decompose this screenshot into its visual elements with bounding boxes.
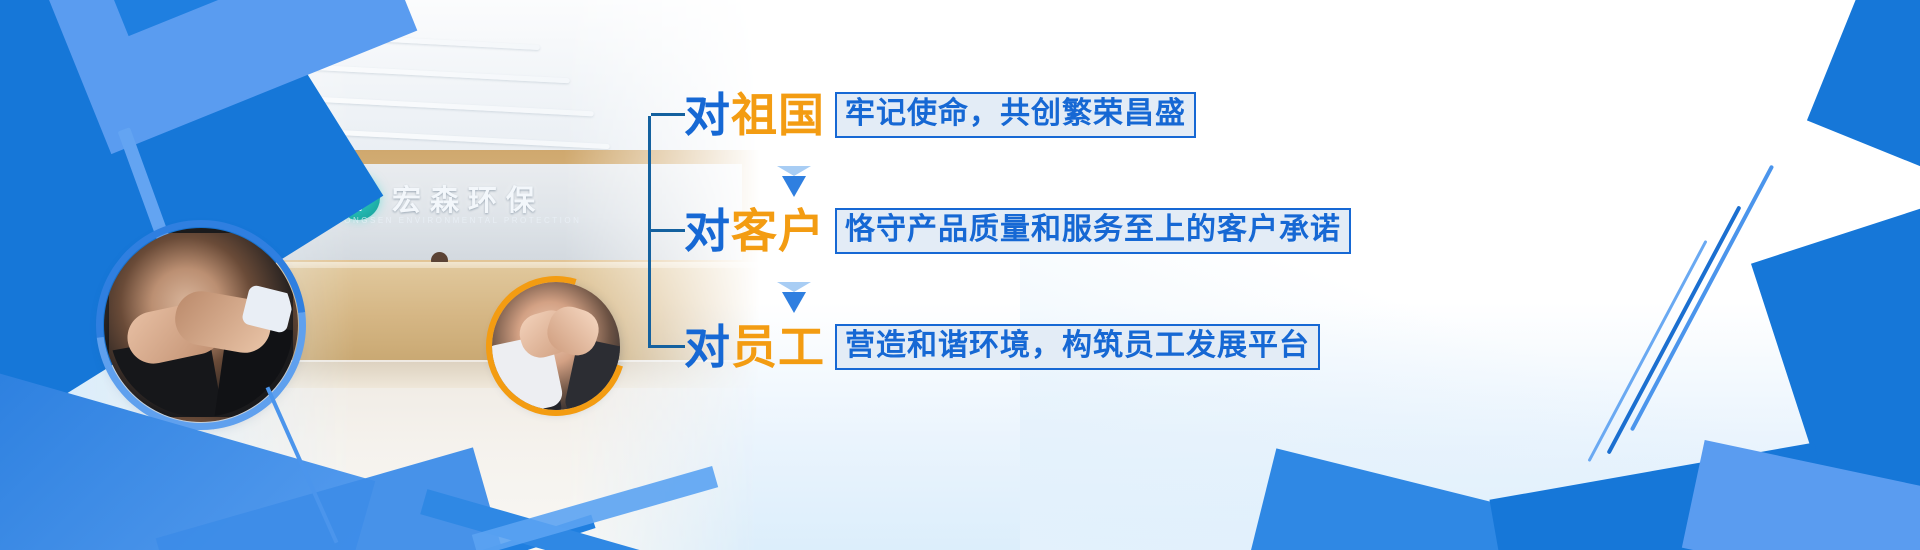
lead-prefix: 对 (684, 88, 731, 142)
bracket-tick-3 (651, 345, 685, 348)
triangle-bottom-part (782, 176, 806, 197)
bracket-tick-1 (651, 113, 685, 116)
value-row-customer: 对客户 恪守产品质量和服务至上的客户承诺 (684, 208, 1351, 254)
bracket-connector (648, 116, 682, 348)
value-lead-country: 对祖国 (684, 92, 825, 138)
value-phrase-employee: 营造和谐环境，构筑员工发展平台 (835, 324, 1320, 370)
company-sign-text: 宏森环保 (392, 177, 544, 219)
value-row-employee: 对员工 营造和谐环境，构筑员工发展平台 (684, 324, 1320, 370)
lead-keyword: 祖国 (731, 88, 825, 142)
value-row-country: 对祖国 牢记使命，共创繁荣昌盛 (684, 92, 1196, 138)
value-lead-employee: 对员工 (684, 324, 825, 370)
triangle-bottom-part (782, 292, 806, 313)
lead-keyword: 员工 (731, 320, 825, 374)
values-list: 对祖国 牢记使命，共创繁荣昌盛 对客户 恪守产品质量和服务至上的客户承诺 对员工… (648, 78, 1388, 378)
lead-prefix: 对 (684, 204, 731, 258)
bracket-tick-2 (651, 229, 685, 232)
triangle-top-part (777, 166, 811, 176)
value-lead-customer: 对客户 (684, 208, 825, 254)
lead-prefix: 对 (684, 320, 731, 374)
company-values-banner: 宏森环保 HONGSEN ENVIRONMENTAL PROTECTION (0, 0, 1920, 550)
value-phrase-customer: 恪守产品质量和服务至上的客户承诺 (835, 208, 1351, 254)
value-phrase-country: 牢记使命，共创繁荣昌盛 (835, 92, 1196, 138)
lead-keyword: 客户 (731, 204, 825, 258)
triangle-top-part (777, 282, 811, 292)
company-sign-subtext: HONGSEN ENVIRONMENTAL PROTECTION (336, 216, 581, 225)
